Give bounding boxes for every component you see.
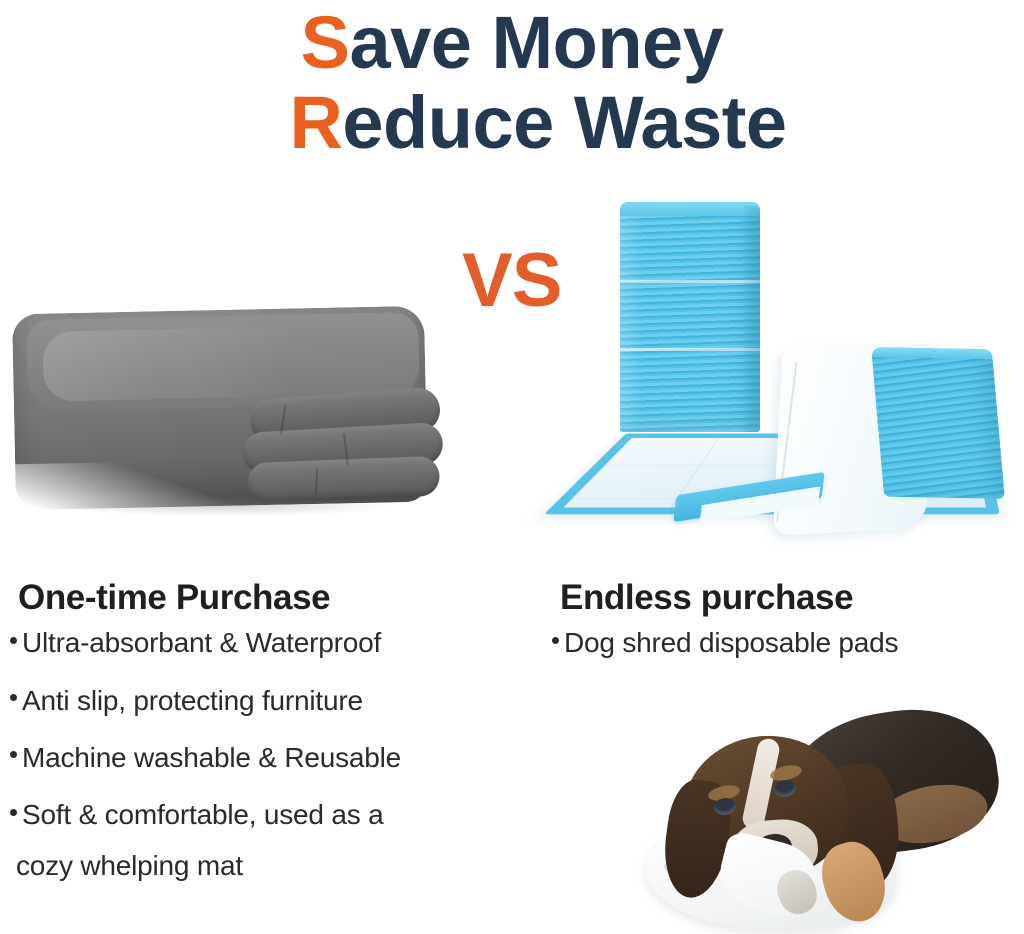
list-item: Machine washable & Reusable (10, 741, 530, 772)
pee-pads-product-image (578, 196, 1024, 556)
list-item: Ultra-absorbant & Waterproof (10, 626, 530, 657)
headline-line-1-text: ave Money (349, 1, 723, 84)
list-item: Soft & comfortable, used as acozy whelpi… (10, 798, 530, 881)
pad-stack-tall-top (620, 202, 760, 216)
list-item: Anti slip, protecting furniture (10, 684, 530, 715)
feature-column-right: Endless purchase Dog shred disposable pa… (552, 578, 1022, 684)
headline-line-1: Save Money (0, 6, 1024, 80)
puppy-image (628, 694, 1020, 934)
bullet-text: Anti slip, protecting furniture (22, 684, 363, 715)
pad-stack-small-top (871, 347, 993, 359)
left-column-heading: One-time Purchase (18, 578, 530, 618)
list-item: Dog shred disposable pads (552, 626, 1022, 657)
pad-stack-tall (620, 202, 760, 432)
headline-line-2: Reduce Waste (0, 86, 1024, 160)
blanket-nap-texture (42, 324, 403, 402)
versus-label: VS (462, 243, 561, 319)
bullet-text: Soft & comfortable, used as a (22, 799, 384, 830)
bullet-dot-icon (10, 637, 17, 644)
bullet-text: Dog shred disposable pads (564, 627, 898, 658)
headline-drop-cap-r: R (289, 81, 342, 164)
bullet-dot-icon (552, 637, 559, 644)
headline-block: Save Money Reduce Waste (0, 6, 1024, 160)
infographic-canvas: Save Money Reduce Waste VS (0, 0, 1024, 934)
pad-stack-seam-1 (620, 280, 760, 283)
bullet-text: Ultra-absorbant & Waterproof (22, 627, 381, 658)
headline-line-2-text: educe Waste (342, 81, 786, 164)
headline-drop-cap-s: S (301, 1, 350, 84)
pad-stack-tall-shadow-edge (744, 206, 760, 432)
bullet-dot-icon (10, 751, 17, 758)
feature-column-left: One-time Purchase Ultra-absorbant & Wate… (10, 578, 530, 907)
blanket-product-image (8, 300, 448, 550)
left-bullet-list: Ultra-absorbant & Waterproof Anti slip, … (10, 626, 530, 881)
right-bullet-list: Dog shred disposable pads (552, 626, 1022, 657)
pad-stack-seam-2 (620, 348, 760, 351)
blanket-drop-shadow (60, 496, 390, 516)
bullet-text-wrapped: cozy whelping mat (16, 851, 530, 880)
bullet-text: Machine washable & Reusable (22, 742, 401, 773)
blanket-body (12, 306, 428, 511)
right-column-heading: Endless purchase (560, 578, 1022, 618)
bullet-dot-icon (10, 694, 17, 701)
pad-stack-small (871, 347, 1005, 499)
bullet-dot-icon (10, 809, 17, 816)
